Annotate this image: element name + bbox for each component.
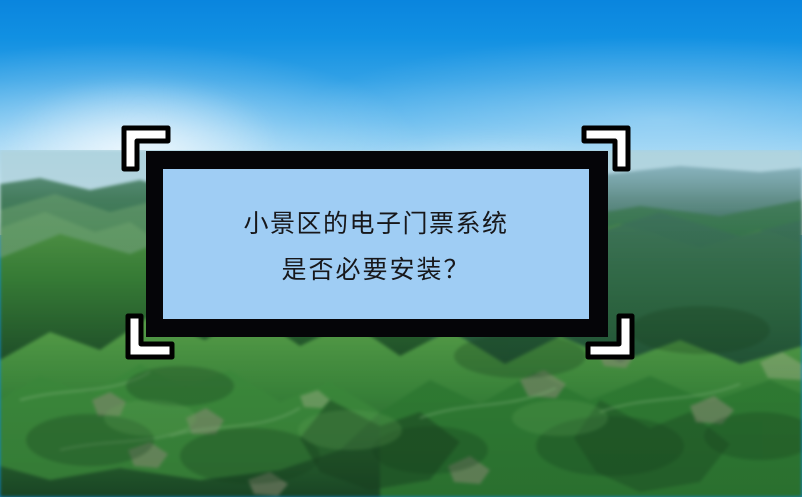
callout-text-line-2: 是否必要安装？ [163,247,589,293]
callout-text-line-1: 小景区的电子门票系统 [163,201,589,247]
banner-scene: 小景区的电子门票系统 是否必要安装？ [0,0,802,497]
callout-panel: 小景区的电子门票系统 是否必要安装？ [163,169,589,319]
callout-text: 小景区的电子门票系统 是否必要安装？ [163,201,589,293]
